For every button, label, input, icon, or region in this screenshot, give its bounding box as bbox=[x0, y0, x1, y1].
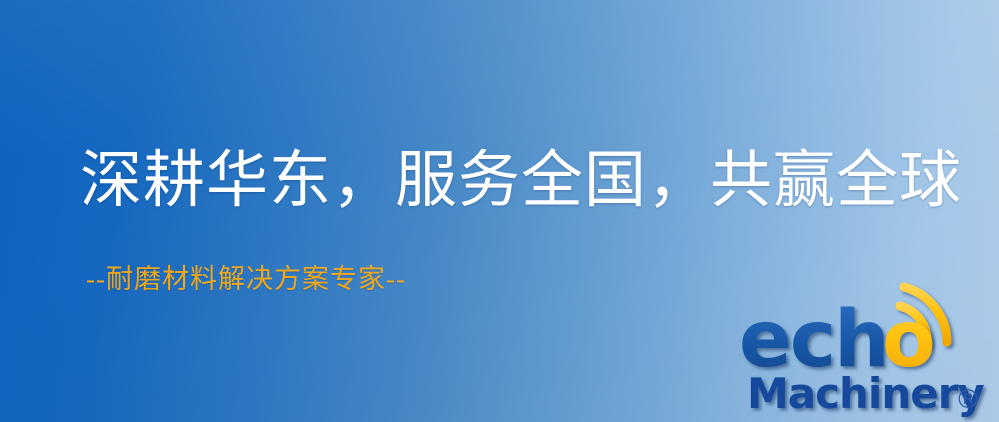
logo-registered-mark: ® bbox=[955, 385, 981, 415]
echo-machinery-logo: ech o Machinery ® bbox=[741, 292, 993, 420]
logo-tagline: Machinery bbox=[747, 369, 984, 418]
banner-subheadline: --耐磨材料解决方案专家-- bbox=[86, 266, 406, 293]
banner-headline: 深耕华东，服务全国，共赢全球 bbox=[80, 150, 962, 212]
hero-banner: 深耕华东，服务全国，共赢全球 --耐磨材料解决方案专家-- bbox=[0, 0, 999, 422]
